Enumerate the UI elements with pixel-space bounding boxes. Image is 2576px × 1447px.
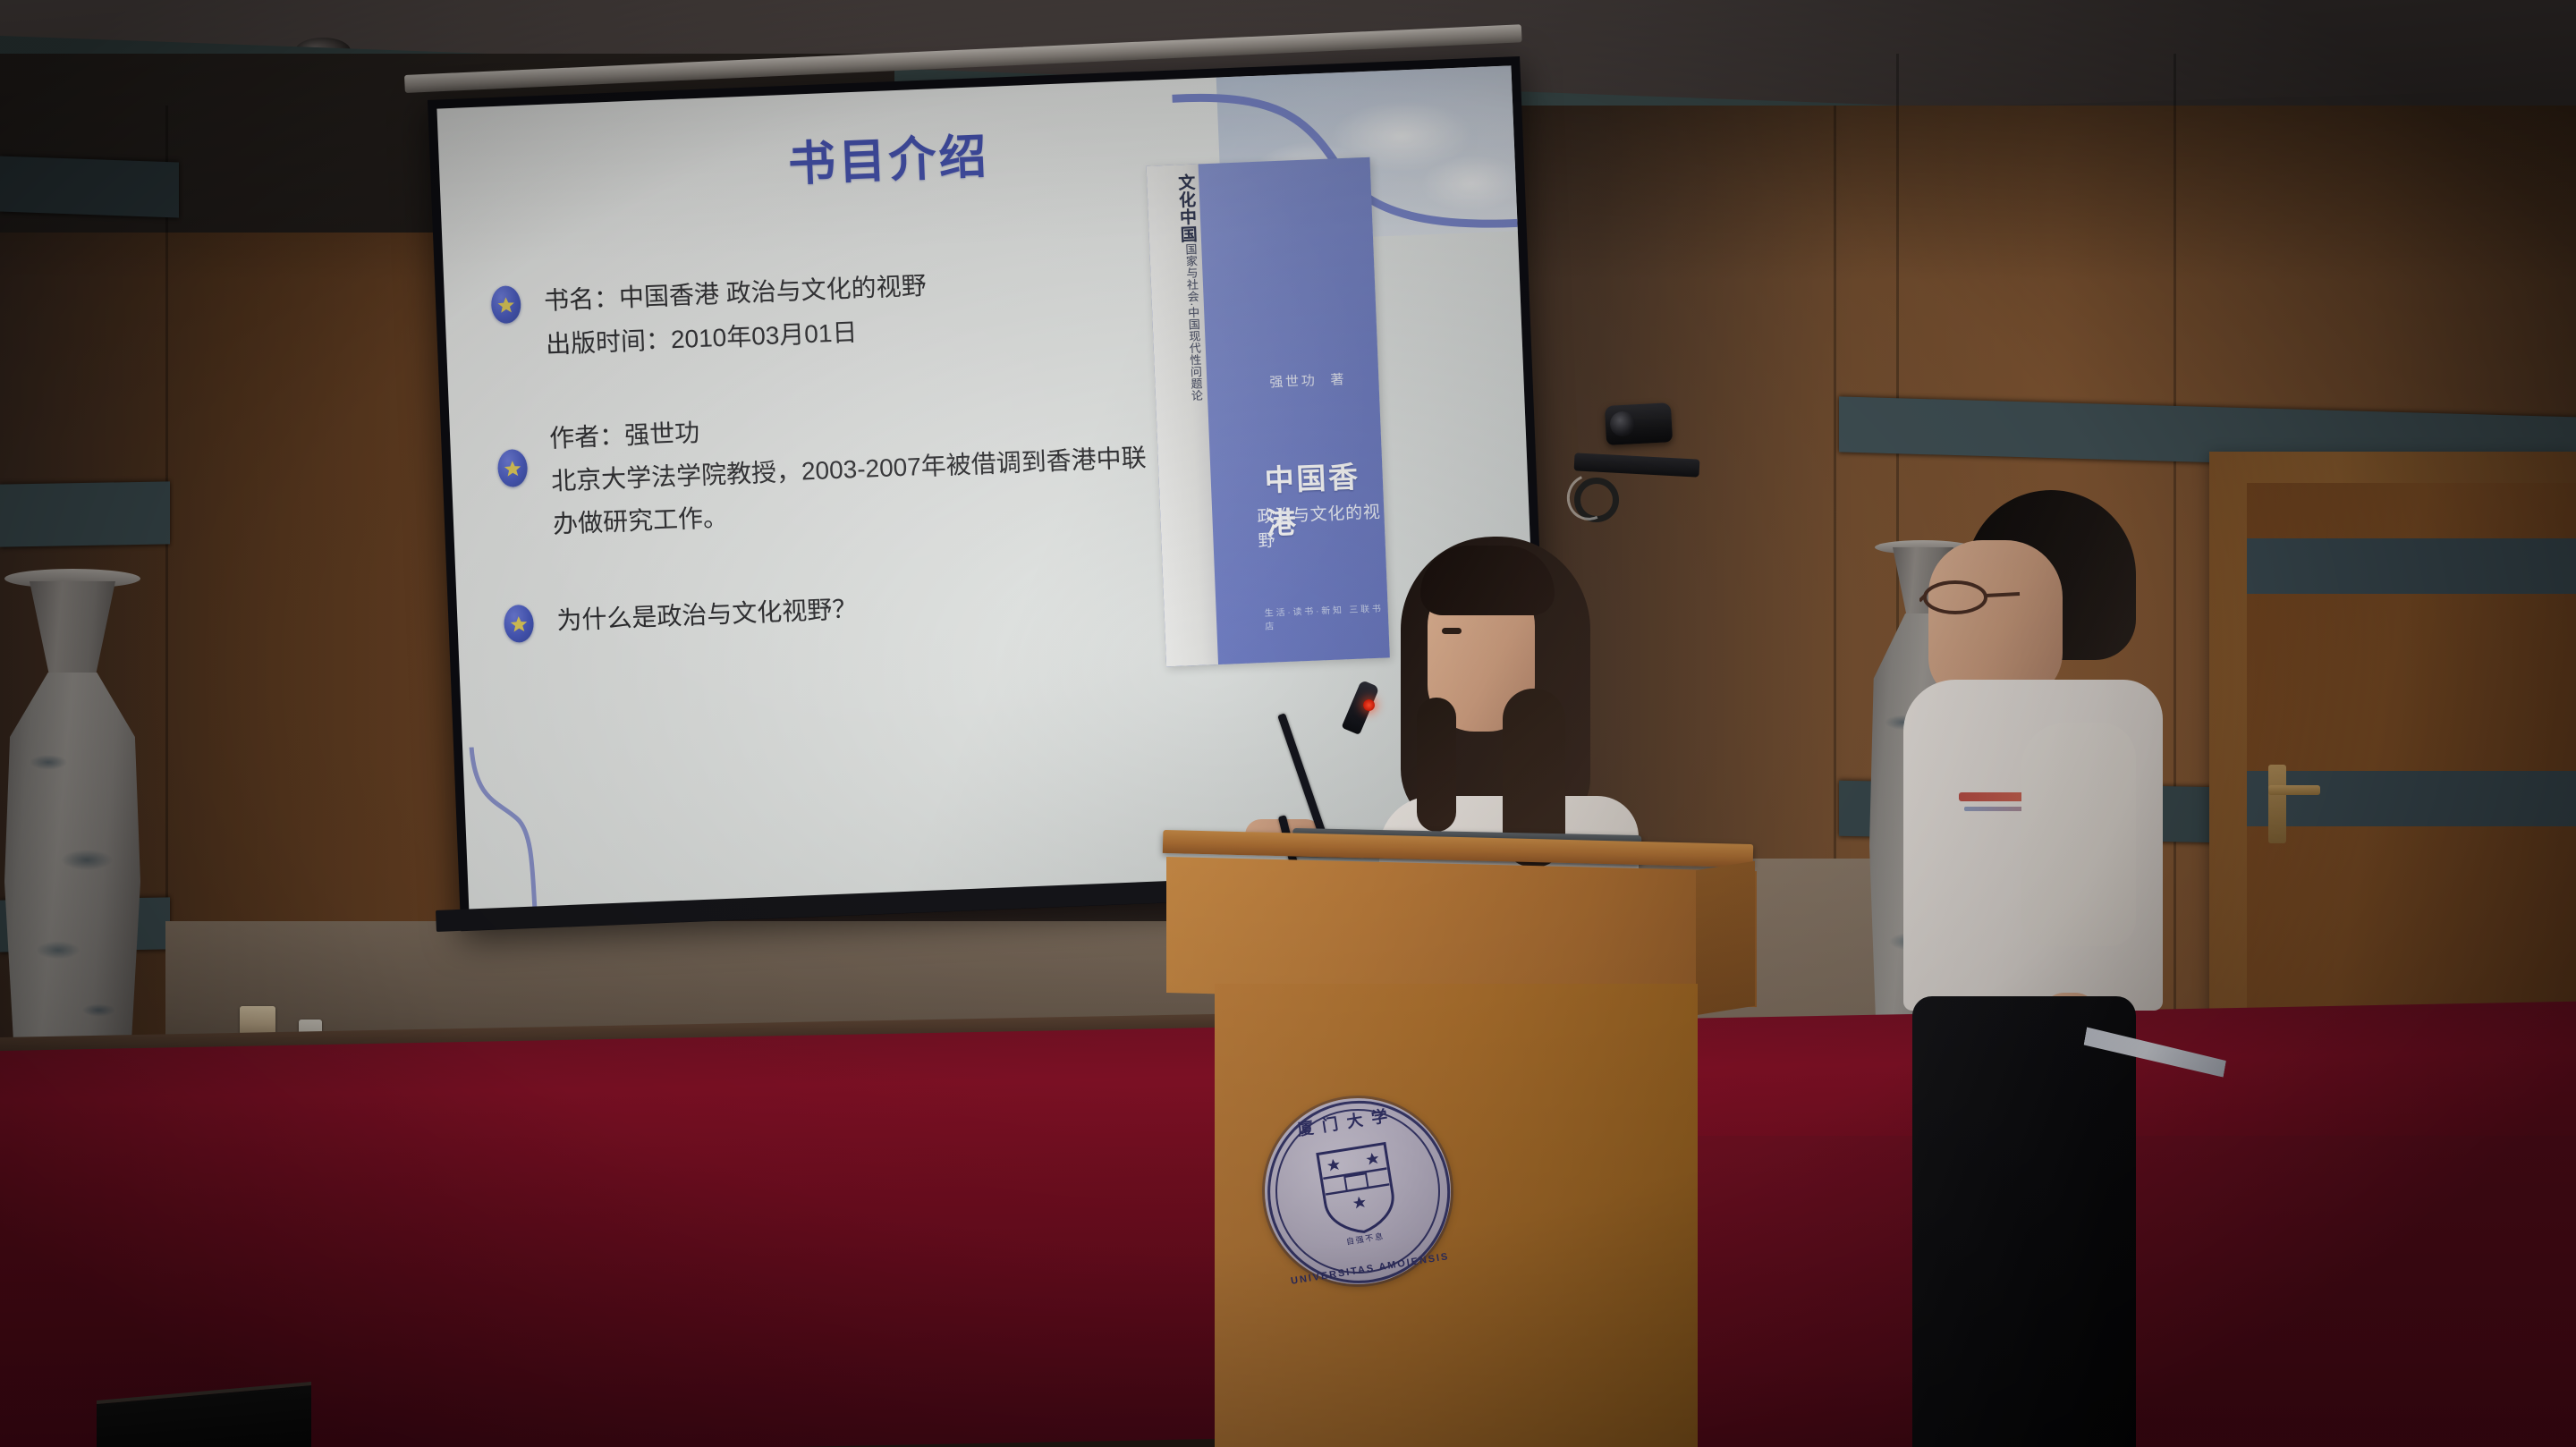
star-icon bbox=[496, 295, 516, 315]
book-author-suffix: 著 bbox=[1330, 369, 1347, 389]
podium-side-panel bbox=[1696, 861, 1755, 1015]
slide-bullet-text: 为什么是政治与文化视野？ bbox=[556, 589, 859, 641]
book-spine-subtitle: 国家与社会·中国现代性问题论 bbox=[1155, 243, 1202, 403]
door-band bbox=[2247, 538, 2576, 594]
book-author: 强世功 bbox=[1269, 370, 1318, 391]
presenter-hair-strand bbox=[1417, 698, 1456, 832]
door-handle[interactable] bbox=[2268, 785, 2320, 795]
book-subtitle: 政治与文化的视野 bbox=[1257, 498, 1385, 552]
scene-root: 书目介绍 书名：中国香港 政治与文化的视野 出版时间：2010年03月01日 bbox=[0, 0, 2576, 1447]
star-bullet-icon bbox=[504, 605, 535, 643]
book-cover-image: 文化中国 国家与社会·中国现代性问题论 强世功 著 中国香港 政治与文化的视野 … bbox=[1147, 157, 1390, 667]
slide-title: 书目介绍 bbox=[787, 119, 991, 195]
wall-band bbox=[0, 157, 179, 218]
attendee-trousers bbox=[1912, 996, 2136, 1447]
wall-outlet[interactable] bbox=[240, 1006, 275, 1035]
slide-swoosh-bottom-icon bbox=[462, 741, 630, 918]
slide-bullet-text: 作者：强世功 北京大学法学院教授，2003-2007年被借调到香港中联 办做研究… bbox=[548, 393, 1148, 546]
door-band bbox=[2247, 771, 2576, 826]
seal-shield-icon bbox=[1309, 1137, 1405, 1241]
attendee bbox=[1869, 490, 2165, 1447]
presenter-hair-fringe bbox=[1420, 546, 1555, 615]
slide-bullet-text: 书名：中国香港 政治与文化的视野 出版时间：2010年03月01日 bbox=[543, 264, 928, 367]
star-bullet-icon bbox=[497, 449, 529, 487]
star-bullet-icon bbox=[490, 285, 521, 324]
slide-bullet: 书名：中国香港 政治与文化的视野 出版时间：2010年03月01日 bbox=[490, 254, 1173, 368]
presenter-eye bbox=[1442, 628, 1462, 634]
attendee-arm bbox=[2021, 723, 2136, 946]
wall-band bbox=[0, 481, 170, 546]
star-icon bbox=[503, 459, 522, 478]
vase-landscape-pattern bbox=[13, 680, 132, 1055]
microphone-led-indicator bbox=[1363, 699, 1375, 711]
slide-bullet: 为什么是政治与文化视野？ bbox=[504, 579, 1131, 644]
attendee-face bbox=[1928, 540, 2063, 701]
wall-seam bbox=[165, 106, 168, 1000]
wall-seam bbox=[2173, 54, 2176, 1127]
eyeglasses-icon bbox=[1919, 578, 2045, 619]
slide-bullet: 作者：强世功 北京大学法学院教授，2003-2007年被借调到香港中联 办做研究… bbox=[496, 391, 1216, 548]
camera-lens-icon bbox=[1610, 411, 1635, 436]
door-lock-plate[interactable] bbox=[2268, 765, 2286, 843]
star-icon bbox=[509, 613, 529, 633]
book-spine-title: 文化中国 bbox=[1152, 173, 1196, 244]
